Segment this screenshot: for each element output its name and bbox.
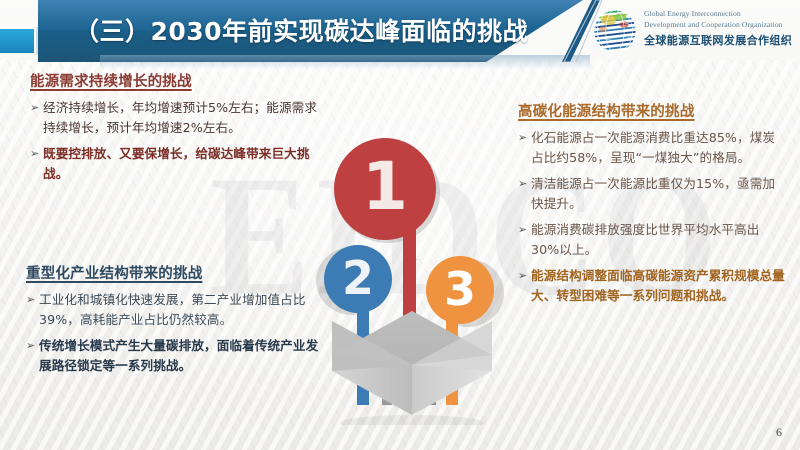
header-shadow-fade <box>100 55 590 69</box>
bullet-arrow-icon: ➢ <box>518 174 531 194</box>
open-box-graphic <box>332 311 492 425</box>
central-infographic: 3 2 1 <box>300 85 525 425</box>
pin-2-number: 2 <box>342 251 374 305</box>
bullet-arrow-icon: ➢ <box>30 98 43 118</box>
header-cyan-accent <box>0 29 34 53</box>
logo-english-line-1: Global Energy Interconnection <box>644 9 794 20</box>
bullet-item: ➢ 既要控排放、又要保增长，给碳达峰带来巨大挑战。 <box>30 144 320 183</box>
bullet-text: 能源结构调整面临高碳能源资产累积规模总量大、转型困难等一系列问题和挑战。 <box>531 266 786 305</box>
slide-header: （三）2030年前实现碳达峰面临的挑战 <box>0 0 800 62</box>
pin-3-number: 3 <box>444 262 476 316</box>
bullet-item: ➢ 经济持续增长，年均增速预计5%左右；能源需求持续增长，预计年均增速2%左右。 <box>30 98 320 137</box>
bullet-arrow-icon: ➢ <box>518 220 531 240</box>
bullet-item: ➢ 传统增长模式产生大量碳排放，面临着传统产业发展路径锁定等一系列挑战。 <box>26 336 326 375</box>
logo-text-group: Global Energy Interconnection Developmen… <box>644 9 794 48</box>
bullet-text: 能源消费碳排放强度比世界平均水平高出30%以上。 <box>531 220 786 259</box>
bullet-text: 传统增长模式产生大量碳排放，面临着传统产业发展路径锁定等一系列挑战。 <box>39 336 326 375</box>
bullet-text: 清洁能源占一次能源比重仅为15%，亟需加快提升。 <box>531 174 786 213</box>
page-title: （三）2030年前实现碳达峰面临的挑战 <box>74 12 504 48</box>
bullet-item: ➢ 清洁能源占一次能源比重仅为15%，亟需加快提升。 <box>518 174 786 213</box>
logo-english-line-2: Development and Cooperation Organization <box>644 20 794 31</box>
bullet-arrow-icon: ➢ <box>518 266 531 286</box>
logo-chinese-name: 全球能源互联网发展合作组织 <box>644 32 794 48</box>
bullet-arrow-icon: ➢ <box>518 128 531 148</box>
bullet-arrow-icon: ➢ <box>26 336 39 356</box>
block-industrial-structure-heading: 重型化产业结构带来的挑战 <box>26 262 326 283</box>
pin-2: 2 <box>324 245 392 325</box>
bullet-arrow-icon: ➢ <box>30 144 43 164</box>
block-energy-demand: 能源需求持续增长的挑战 ➢ 经济持续增长，年均增速预计5%左右；能源需求持续增长… <box>30 70 320 190</box>
page-number: 6 <box>776 425 782 440</box>
block-industrial-structure: 重型化产业结构带来的挑战 ➢ 工业化和城镇化快速发展，第二产业增加值占比39%，… <box>26 262 326 382</box>
bullet-text: 既要控排放、又要保增长，给碳达峰带来巨大挑战。 <box>43 144 320 183</box>
bullet-arrow-icon: ➢ <box>26 290 39 310</box>
organization-logo: Global Energy Interconnection Developmen… <box>592 7 792 57</box>
pin-1-number: 1 <box>362 148 408 225</box>
bullet-item: ➢ 化石能源占一次能源消费比重达85%，煤炭占比约58%，呈现“一煤独大”的格局… <box>518 128 786 167</box>
bullet-text: 化石能源占一次能源消费比重达85%，煤炭占比约58%，呈现“一煤独大”的格局。 <box>531 128 786 167</box>
block-carbon-energy-structure: 高碳化能源结构带来的挑战 ➢ 化石能源占一次能源消费比重达85%，煤炭占比约58… <box>518 100 786 312</box>
slide-root: EIDCO （三）2030年前实现碳达峰面临的挑战 <box>0 0 800 450</box>
bullet-text: 经济持续增长，年均增速预计5%左右；能源需求持续增长，预计年均增速2%左右。 <box>43 98 320 137</box>
bullet-item: ➢ 工业化和城镇化快速发展，第二产业增加值占比39%，高耗能产业占比仍然较高。 <box>26 290 326 329</box>
block-carbon-energy-structure-heading: 高碳化能源结构带来的挑战 <box>518 100 786 121</box>
bullet-item: ➢ 能源消费碳排放强度比世界平均水平高出30%以上。 <box>518 220 786 259</box>
block-energy-demand-heading: 能源需求持续增长的挑战 <box>30 70 320 91</box>
globe-icon <box>592 8 638 54</box>
bullet-text: 工业化和城镇化快速发展，第二产业增加值占比39%，高耗能产业占比仍然较高。 <box>39 290 326 329</box>
bullet-item: ➢ 能源结构调整面临高碳能源资产累积规模总量大、转型困难等一系列问题和挑战。 <box>518 266 786 305</box>
